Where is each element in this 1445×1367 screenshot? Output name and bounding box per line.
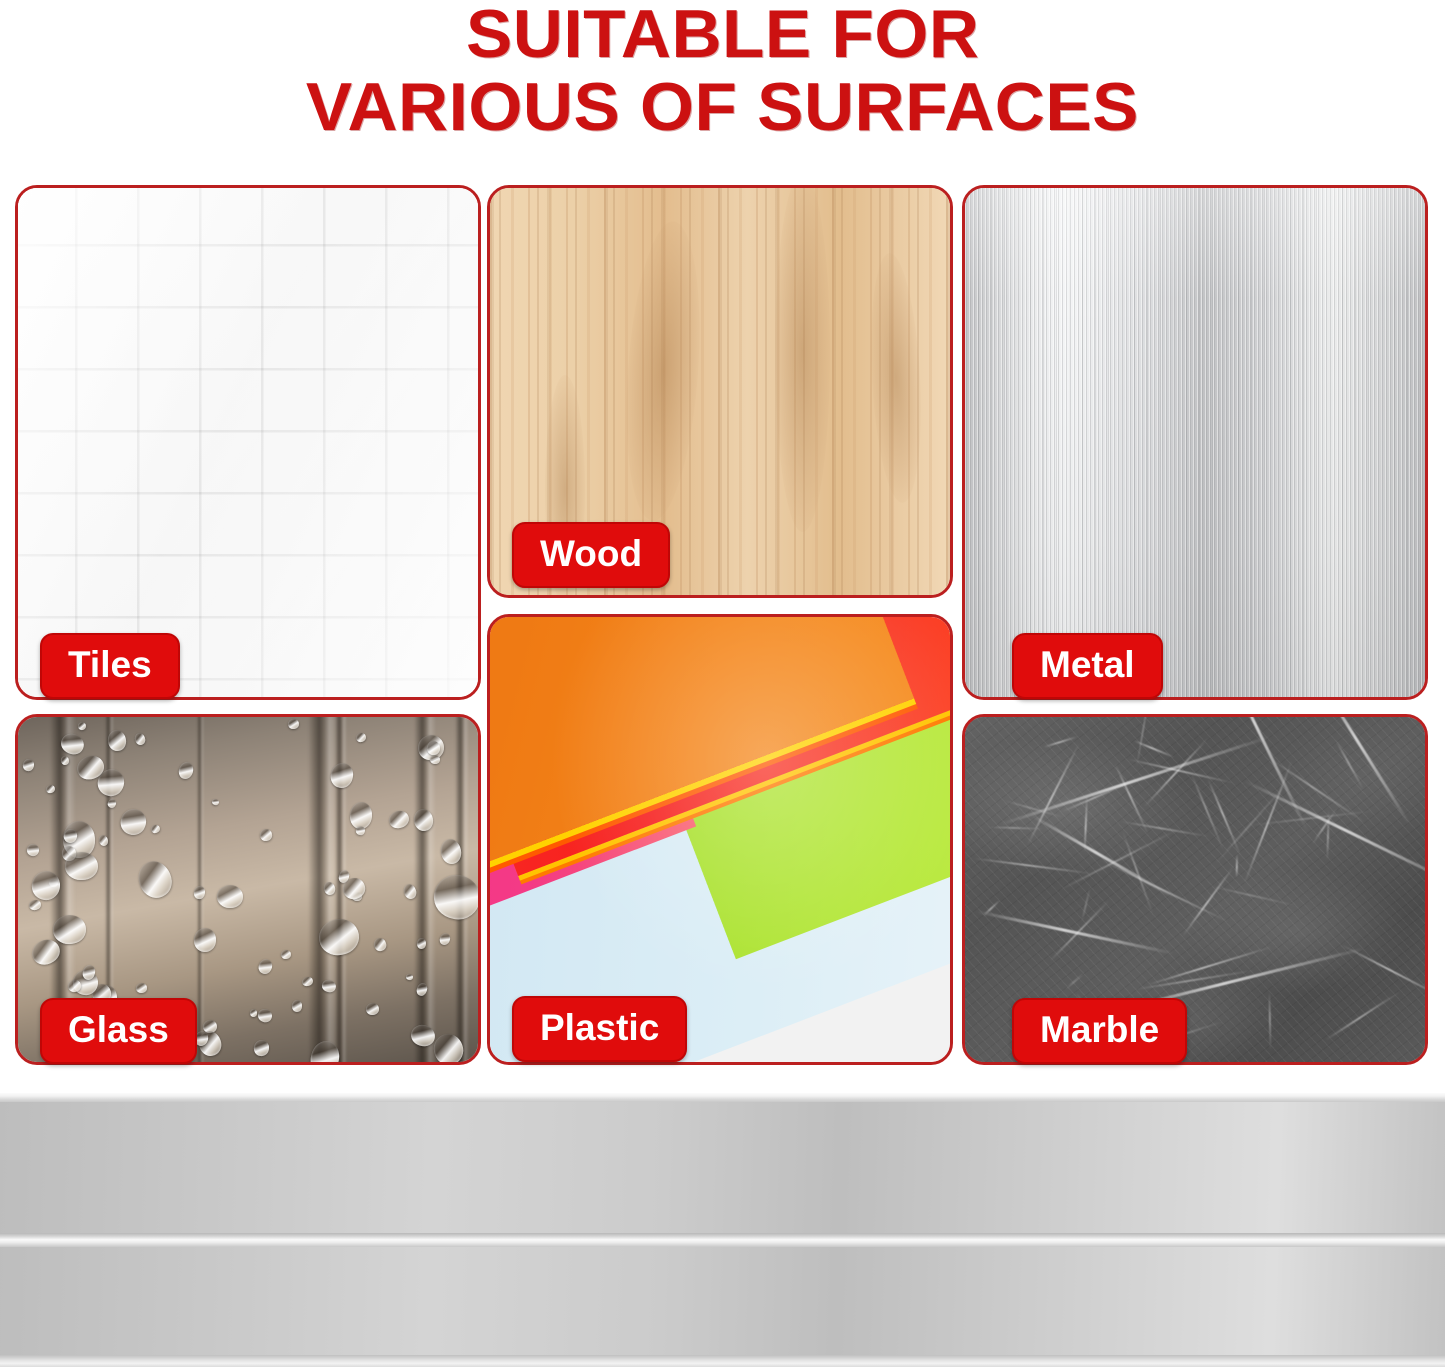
surface-label-tiles: Tiles bbox=[40, 633, 180, 699]
surface-card-metal bbox=[962, 185, 1428, 700]
water-droplet bbox=[354, 825, 365, 836]
water-droplet bbox=[193, 927, 218, 953]
water-droplet bbox=[149, 824, 160, 835]
surface-label-marble: Marble bbox=[1012, 998, 1187, 1064]
metal-sheen-overlay bbox=[965, 188, 1425, 697]
water-droplet bbox=[280, 949, 291, 959]
water-droplet bbox=[287, 719, 298, 730]
wood-grain-streak bbox=[618, 218, 709, 522]
page-title: SUITABLE FOR VARIOUS OF SURFACES bbox=[0, 0, 1445, 175]
water-droplet bbox=[259, 828, 273, 842]
water-droplet bbox=[257, 957, 275, 975]
wood-grain-streak bbox=[775, 185, 830, 532]
water-droplet bbox=[355, 731, 367, 742]
surface-label-wood: Wood bbox=[512, 522, 670, 588]
band-seam-top bbox=[0, 1093, 1445, 1102]
surface-label-plastic: Plastic bbox=[512, 996, 687, 1062]
water-droplet bbox=[430, 755, 441, 765]
water-droplet bbox=[292, 1000, 303, 1012]
tiles-texture bbox=[18, 188, 478, 697]
water-droplet bbox=[406, 973, 414, 980]
water-droplet bbox=[135, 982, 147, 993]
water-droplet bbox=[416, 938, 425, 949]
surface-label-glass: Glass bbox=[40, 998, 197, 1064]
water-droplet bbox=[438, 931, 452, 946]
water-droplet bbox=[301, 975, 313, 986]
water-droplet bbox=[53, 915, 87, 945]
water-droplet bbox=[253, 1039, 270, 1057]
title-line-1: SUITABLE FOR bbox=[466, 2, 979, 67]
water-droplet bbox=[250, 1009, 257, 1017]
glass-run-streak bbox=[414, 714, 436, 1065]
water-droplet bbox=[428, 869, 481, 926]
water-droplet bbox=[22, 758, 35, 772]
water-droplet bbox=[133, 731, 147, 746]
water-droplet bbox=[64, 852, 97, 881]
water-droplet bbox=[216, 884, 243, 908]
surface-card-tiles bbox=[15, 185, 481, 700]
water-droplet bbox=[387, 808, 411, 830]
water-droplet bbox=[177, 760, 195, 780]
water-droplet bbox=[25, 842, 41, 858]
surface-label-metal: Metal bbox=[1012, 633, 1163, 699]
water-droplet bbox=[28, 899, 41, 910]
water-droplet bbox=[366, 1003, 379, 1016]
band-seam-middle bbox=[0, 1233, 1445, 1247]
wood-grain-streak bbox=[865, 252, 926, 504]
water-droplet bbox=[372, 936, 388, 952]
water-droplet bbox=[133, 856, 177, 903]
bottom-product-edge-band bbox=[0, 1093, 1445, 1367]
water-droplet bbox=[78, 721, 88, 731]
band-seam-bottom bbox=[0, 1355, 1445, 1367]
water-droplet bbox=[118, 805, 151, 838]
title-line-2: VARIOUS OF SURFACES bbox=[306, 75, 1139, 140]
water-droplet bbox=[211, 798, 219, 806]
water-droplet bbox=[256, 1007, 273, 1024]
